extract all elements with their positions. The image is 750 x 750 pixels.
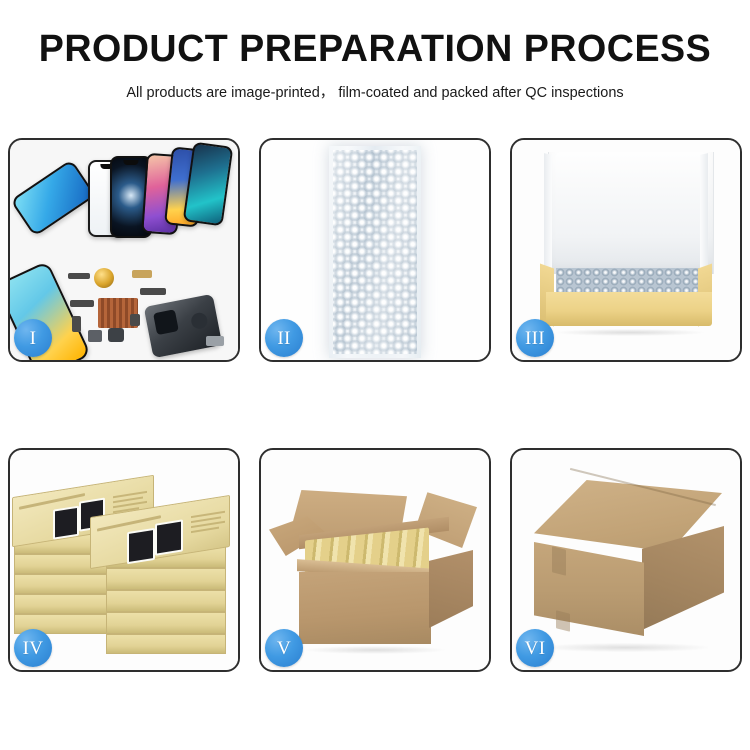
box-front-panel [546, 292, 712, 326]
page-subtitle: All products are image-printed， film-coa… [0, 81, 750, 102]
stacked-box [14, 594, 118, 614]
box-lid-right-edge [700, 153, 708, 275]
page-header: PRODUCT PREPARATION PROCESS All products… [0, 0, 750, 102]
process-step-grid: I II III [8, 138, 742, 672]
step-badge-1: I [14, 319, 52, 357]
process-step-card-2[interactable]: II [259, 138, 491, 362]
bubble-wrap-fill [556, 268, 704, 294]
step-badge-3: III [516, 319, 554, 357]
stacked-box [106, 590, 226, 612]
plastic-sheen [329, 146, 421, 358]
flex-cable-part [68, 273, 90, 279]
stacked-box [14, 574, 118, 594]
step-numeral: I [30, 329, 37, 348]
process-step-card-3[interactable]: III [510, 138, 742, 362]
taptic-engine-part [108, 328, 124, 342]
phone-back-housing-part [144, 294, 223, 358]
carton-front-panel [299, 572, 431, 644]
screws-part [206, 336, 224, 346]
step-badge-5: V [265, 629, 303, 667]
step-badge-6: VI [516, 629, 554, 667]
box-lid-left-edge [544, 153, 552, 275]
speaker-part [88, 330, 102, 342]
carton-side-panel [429, 550, 473, 628]
drop-shadow [542, 643, 708, 652]
stacked-box [106, 612, 226, 634]
step-numeral: V [277, 639, 291, 658]
process-step-card-1[interactable]: I [8, 138, 240, 362]
sim-tray-part [130, 314, 140, 326]
box-window-right [155, 519, 183, 555]
step-numeral: II [277, 329, 290, 348]
step-numeral: III [525, 329, 545, 348]
carton-tape-patch-lower [556, 610, 570, 631]
camera-module-part [72, 316, 81, 332]
drop-shadow [556, 329, 704, 336]
antenna-flex-part [140, 288, 166, 295]
stacked-box [106, 568, 226, 590]
step-badge-4: IV [14, 629, 52, 667]
process-step-card-5[interactable]: V [259, 448, 491, 672]
step-badge-2: II [265, 319, 303, 357]
connector-part [70, 300, 94, 307]
step-numeral: IV [23, 639, 44, 658]
step-numeral: VI [525, 639, 546, 658]
phone-blue-angled [10, 159, 96, 237]
box-lid-flap [548, 152, 714, 274]
stacked-box [106, 634, 226, 654]
carton-tape-patch-upper [552, 546, 566, 575]
bubble-wrap-strip [329, 146, 421, 358]
box-window-left [127, 528, 155, 564]
process-step-card-4[interactable]: IV [8, 448, 240, 672]
box-window-left [53, 506, 79, 540]
vibration-motor-part [94, 268, 114, 288]
process-step-card-6[interactable]: VI [510, 448, 742, 672]
bracket-part [132, 270, 152, 278]
carton-front-face [534, 542, 644, 636]
notch-icon [123, 160, 138, 165]
page-title: PRODUCT PREPARATION PROCESS [4, 30, 747, 70]
drop-shadow [305, 646, 445, 654]
